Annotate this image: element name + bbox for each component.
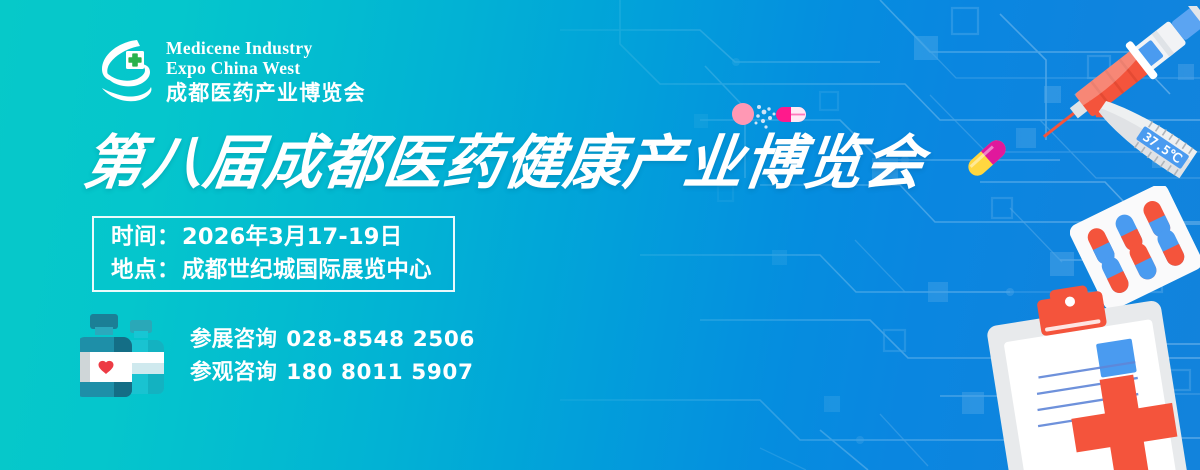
banner-title: 第八届成都医药健康产业博览会 bbox=[80, 128, 929, 198]
event-info-box: 时间：2026年3月17-19日 地点：成都世纪城国际展览中心 bbox=[92, 216, 455, 292]
event-date-label: 时间： bbox=[111, 224, 180, 250]
visitor-contact-row: 参观咨询180 8011 5907 bbox=[190, 356, 475, 389]
visitor-contact-label: 参观咨询 bbox=[190, 360, 277, 385]
expo-logo: Medicene Industry Expo China West 成都医药产业… bbox=[96, 36, 366, 108]
logo-english-line2: Expo China West bbox=[166, 58, 366, 78]
medicine-bottles-icon bbox=[80, 310, 176, 402]
ribbon-cross-logo-icon bbox=[96, 36, 154, 108]
event-date-row: 时间：2026年3月17-19日 bbox=[111, 221, 453, 254]
logo-chinese: 成都医药产业博览会 bbox=[166, 80, 366, 106]
logo-english-line1: Medicene Industry bbox=[166, 38, 366, 58]
exhibitor-contact-row: 参展咨询028-8548 2506 bbox=[190, 323, 475, 356]
expo-banner: Medicene Industry Expo China West 成都医药产业… bbox=[0, 0, 1200, 470]
capsule-icon bbox=[959, 132, 1015, 184]
event-venue-label: 地点： bbox=[111, 257, 180, 283]
contact-block: 参展咨询028-8548 2506 参观咨询180 8011 5907 bbox=[80, 310, 475, 402]
exhibitor-contact-label: 参展咨询 bbox=[190, 327, 277, 352]
event-venue-row: 地点：成都世纪城国际展览中心 bbox=[111, 254, 453, 287]
thermometer-icon: 37.5℃ bbox=[1072, 95, 1200, 191]
event-date-value: 2026年3月17-19日 bbox=[182, 224, 402, 250]
clipboard-icon bbox=[978, 285, 1200, 470]
exhibitor-contact-phone: 028-8548 2506 bbox=[286, 327, 475, 352]
visitor-contact-phone: 180 8011 5907 bbox=[286, 360, 473, 385]
syringe-icon bbox=[1026, 6, 1200, 166]
blister-pack-icon bbox=[1070, 186, 1200, 308]
thermometer-reading: 37.5℃ bbox=[1140, 129, 1185, 166]
event-venue-value: 成都世纪城国际展览中心 bbox=[182, 257, 432, 283]
